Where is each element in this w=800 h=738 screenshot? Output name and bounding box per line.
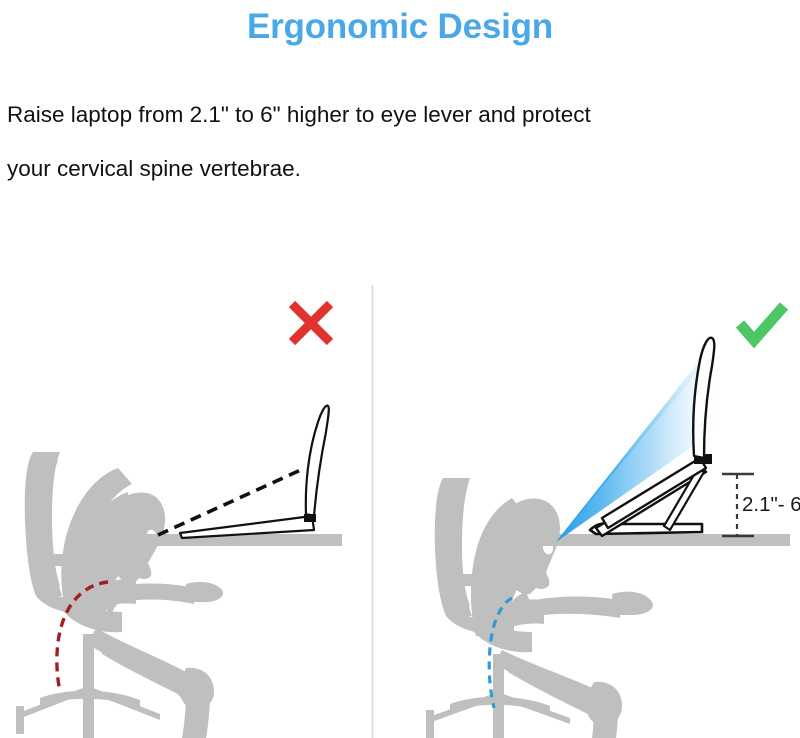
left-panel-illustration: [16, 304, 342, 738]
page-title-text: Ergonomic Design: [247, 7, 553, 46]
page-title: Ergonomic Design: [0, 5, 800, 49]
laptop-left: [180, 406, 329, 538]
comparison-diagram: 2.1"- 6": [0, 252, 800, 738]
check-mark-icon: [740, 306, 784, 340]
infographic-page: Ergonomic Design Raise laptop from 2.1" …: [0, 0, 800, 738]
description-line-1: Raise laptop from 2.1" to 6" higher to e…: [7, 88, 793, 142]
cross-mark-icon: [292, 304, 330, 342]
description-block: Raise laptop from 2.1" to 6" higher to e…: [7, 88, 793, 196]
description-line-2: your cervical spine vertebrae.: [7, 142, 793, 196]
diagram-canvas: 2.1"- 6": [0, 252, 800, 738]
right-panel-illustration: 2.1"- 6": [426, 306, 800, 738]
height-dimension-indicator: 2.1"- 6": [722, 474, 800, 536]
height-dimension-label: 2.1"- 6": [742, 493, 800, 516]
